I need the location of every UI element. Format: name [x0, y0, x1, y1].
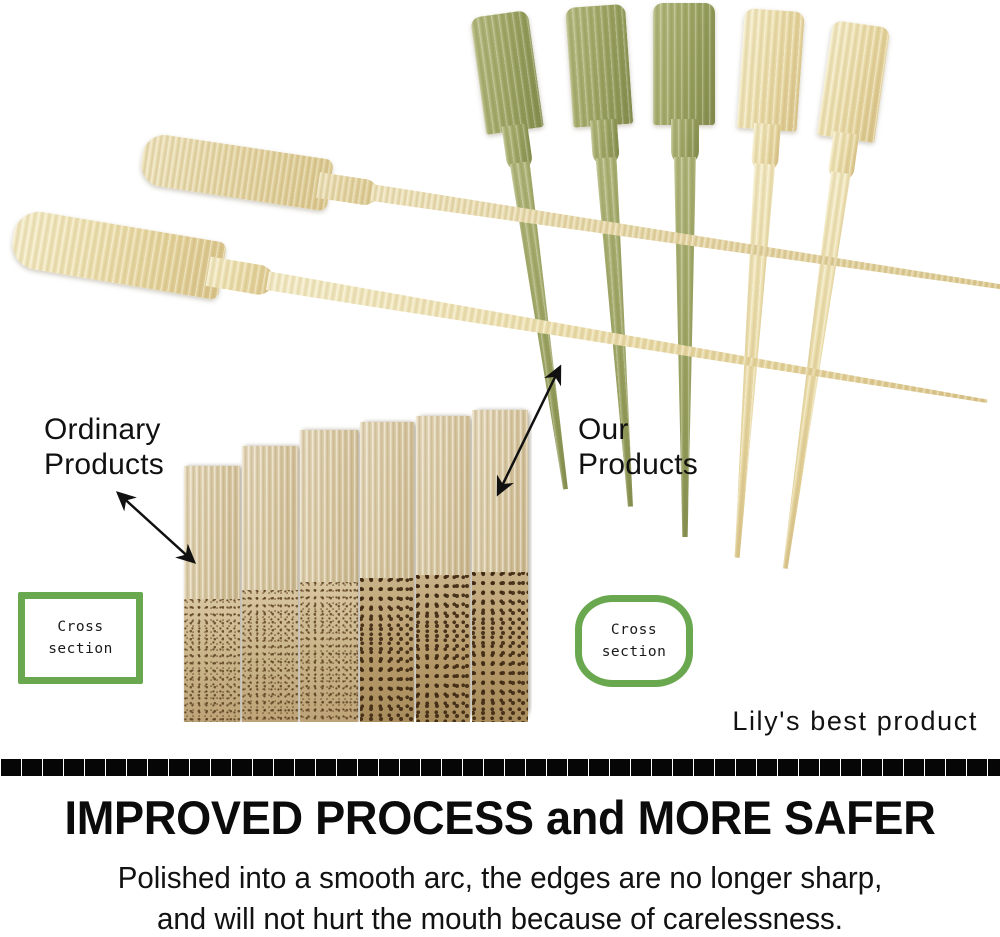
- product-feature-image: Ordinary Products Our Products: [0, 0, 1000, 937]
- cross-section-badge-ordinary: Cross section: [18, 592, 143, 684]
- subcopy-line-2: and will not hurt the mouth because of c…: [25, 898, 975, 937]
- stick-cross-section: [242, 446, 298, 722]
- cross-section-photo: [180, 404, 532, 722]
- stick-cross-section: [300, 430, 358, 722]
- dashed-rule: [0, 759, 1000, 776]
- subcopy: Polished into a smooth arc, the edges ar…: [25, 857, 975, 937]
- cross-section-badge-label: Cross section: [602, 619, 667, 664]
- headline: IMPROVED PROCESS and MORE SAFER: [20, 790, 980, 845]
- product-photo: Ordinary Products Our Products: [0, 0, 1000, 752]
- stick-cross-section: [416, 416, 470, 722]
- arrow-ordinary-icon: [108, 484, 220, 576]
- label-ordinary-products: Ordinary Products: [44, 412, 164, 482]
- stick-cross-section: [360, 422, 414, 722]
- label-our-products: Our Products: [578, 412, 698, 482]
- subcopy-line-1: Polished into a smooth arc, the edges ar…: [25, 857, 975, 898]
- brand-tagline: Lily's best product: [732, 706, 978, 737]
- cross-section-badge-ours: Cross section: [575, 595, 693, 687]
- arrow-our-products-icon: [486, 358, 586, 508]
- bamboo-stick-bundle: [180, 404, 532, 722]
- cross-section-badge-label: Cross section: [48, 616, 113, 661]
